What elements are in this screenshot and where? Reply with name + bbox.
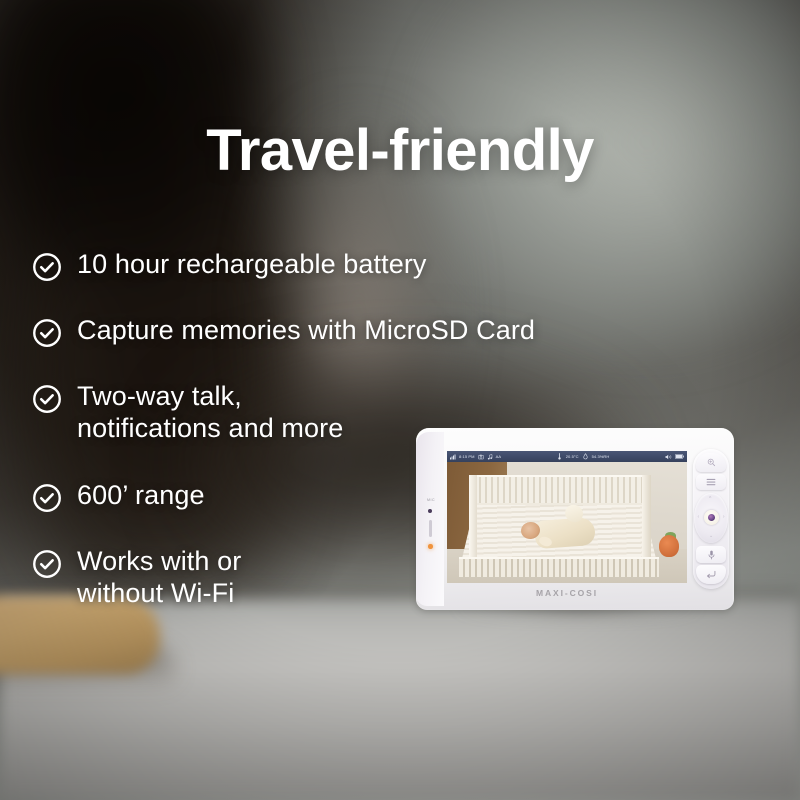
baby-monitor-device: MIC [416,428,734,610]
status-led-dark [428,509,432,513]
screen-status-bar: 8:15 PM AA 20.5°C [447,451,687,462]
crib [461,475,657,571]
crib-rail-right [642,475,651,567]
status-bar-center: 20.5°C 54.3%RH [501,453,665,460]
battery-icon [675,454,684,459]
status-bar-left: 8:15 PM AA [450,454,501,460]
music-note-icon [487,454,493,460]
control-panel: ^ ‹ › ⌄ [693,449,729,589]
mic-label: MIC [421,498,441,502]
talk-button[interactable] [696,546,726,563]
menu-button[interactable] [696,474,726,490]
feed-toy [659,535,679,557]
temperature-value: 20.5°C [566,454,579,459]
chevron-right-icon[interactable]: › [723,515,725,520]
crib-rail-left [469,475,477,567]
humidity-icon [583,453,588,460]
device-screen[interactable]: 8:15 PM AA 20.5°C [447,451,687,583]
back-button[interactable] [696,565,726,584]
microphone-slot [429,520,432,537]
zoom-button[interactable] [696,453,726,472]
feature-label: Works with or without Wi-Fi [77,545,241,610]
crib-front-slats [459,557,659,577]
feature-label: 600’ range [77,479,205,511]
feature-label: 10 hour rechargeable battery [77,248,427,280]
check-circle-icon [32,549,62,579]
brand-logo: MAXI-COSI [447,588,687,598]
feature-label: Capture memories with MicroSD Card [77,314,535,346]
hamburger-menu-icon [706,478,716,486]
return-arrow-icon [706,570,716,579]
chevron-left-icon[interactable]: ‹ [698,515,700,520]
check-circle-icon [32,483,62,513]
speaker-icon [665,454,672,460]
thermometer-icon [557,453,562,460]
status-time: 8:15 PM [459,454,475,459]
check-circle-icon [32,384,62,414]
check-circle-icon [32,318,62,348]
device-left-rail: MIC [416,432,444,606]
check-circle-icon [32,252,62,282]
video-feed [447,451,687,583]
signal-bars-icon [450,454,456,460]
magnifier-plus-icon [707,458,716,467]
directional-pad[interactable]: ^ ‹ › ⌄ [694,493,728,543]
microphone-icon [708,550,715,560]
chevron-down-icon[interactable]: ⌄ [709,534,713,539]
list-item: Capture memories with MicroSD Card [32,314,652,348]
charging-led [428,544,433,549]
crib-back-slats [475,475,645,505]
humidity-value: 54.3%RH [592,454,610,459]
page-title: Travel-friendly [0,117,800,184]
status-bar-right [665,454,684,460]
feature-label: Two-way talk, notifications and more [77,380,343,445]
camera-icon [478,454,484,460]
power-eye-icon [708,514,715,521]
power-ok-button[interactable] [704,510,719,525]
chevron-up-icon[interactable]: ^ [709,497,711,502]
list-item: 10 hour rechargeable battery [32,248,652,282]
